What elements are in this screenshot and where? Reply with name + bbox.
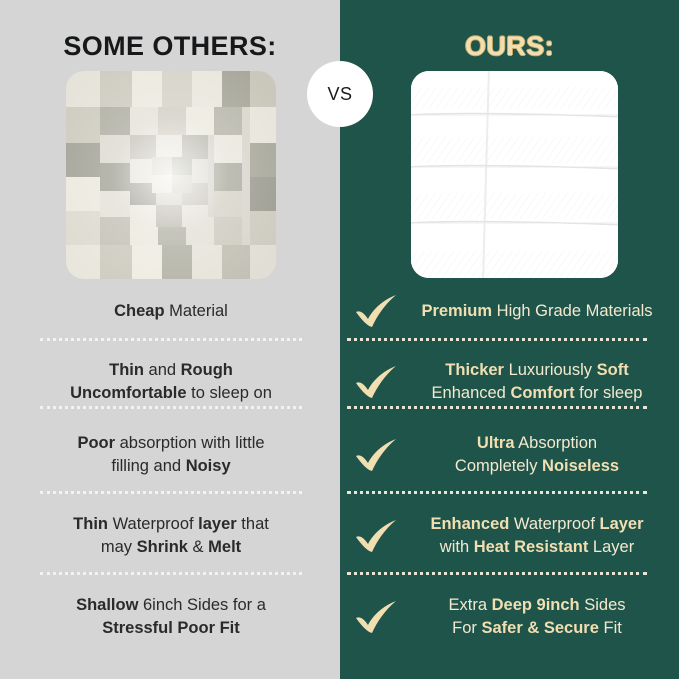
right-product-image — [411, 71, 618, 278]
right-feature-row: Enhanced Waterproof Layerwith Heat Resis… — [355, 509, 671, 562]
row-divider — [40, 491, 302, 494]
right-feature-row: Ultra AbsorptionCompletely Noiseless — [355, 428, 671, 481]
check-icon — [353, 436, 399, 474]
left-feature-row: Cheap Material — [18, 296, 324, 326]
row-divider — [347, 572, 647, 575]
check-icon — [353, 292, 399, 330]
right-feature-text: Extra Deep 9inch SidesFor Safer & Secure… — [449, 594, 626, 640]
right-feature-text: Enhanced Waterproof Layerwith Heat Resis… — [430, 513, 643, 559]
comparison-infographic: SOME OTHERS: OURS: — [0, 0, 679, 679]
row-divider — [347, 338, 647, 341]
row-divider — [40, 572, 302, 575]
row-divider — [40, 338, 302, 341]
right-feature-row: Extra Deep 9inch SidesFor Safer & Secure… — [355, 590, 671, 643]
row-divider — [347, 406, 647, 409]
left-feature-text: Thin Waterproof layer thatmay Shrink & M… — [73, 513, 269, 559]
left-feature-row: Shallow 6inch Sides for aStressful Poor … — [18, 590, 324, 643]
left-feature-text: Poor absorption with littlefilling and N… — [77, 432, 264, 478]
row-divider — [347, 491, 647, 494]
check-icon — [353, 363, 399, 401]
left-feature-row: Thin and RoughUncomfortable to sleep on — [18, 355, 324, 408]
left-column-header: SOME OTHERS: — [0, 26, 340, 66]
check-icon — [353, 517, 399, 555]
right-feature-text: Thicker Luxuriously SoftEnhanced Comfort… — [432, 359, 643, 405]
right-feature-text: Premium High Grade Materials — [421, 300, 652, 323]
vs-badge-label: VS — [327, 84, 352, 105]
left-feature-row: Thin Waterproof layer thatmay Shrink & M… — [18, 509, 324, 562]
right-feature-row: Thicker Luxuriously SoftEnhanced Comfort… — [355, 355, 671, 408]
left-feature-text: Thin and RoughUncomfortable to sleep on — [70, 359, 272, 405]
left-feature-row: Poor absorption with littlefilling and N… — [18, 428, 324, 481]
check-icon — [353, 598, 399, 636]
left-product-image — [66, 71, 276, 279]
right-feature-text: Ultra AbsorptionCompletely Noiseless — [455, 432, 619, 478]
vs-badge: VS — [307, 61, 373, 127]
right-column-header: OURS: — [340, 26, 679, 66]
left-feature-text: Shallow 6inch Sides for aStressful Poor … — [76, 594, 266, 640]
left-feature-text: Cheap Material — [114, 300, 228, 323]
right-feature-row: Premium High Grade Materials — [355, 296, 671, 326]
row-divider — [40, 406, 302, 409]
